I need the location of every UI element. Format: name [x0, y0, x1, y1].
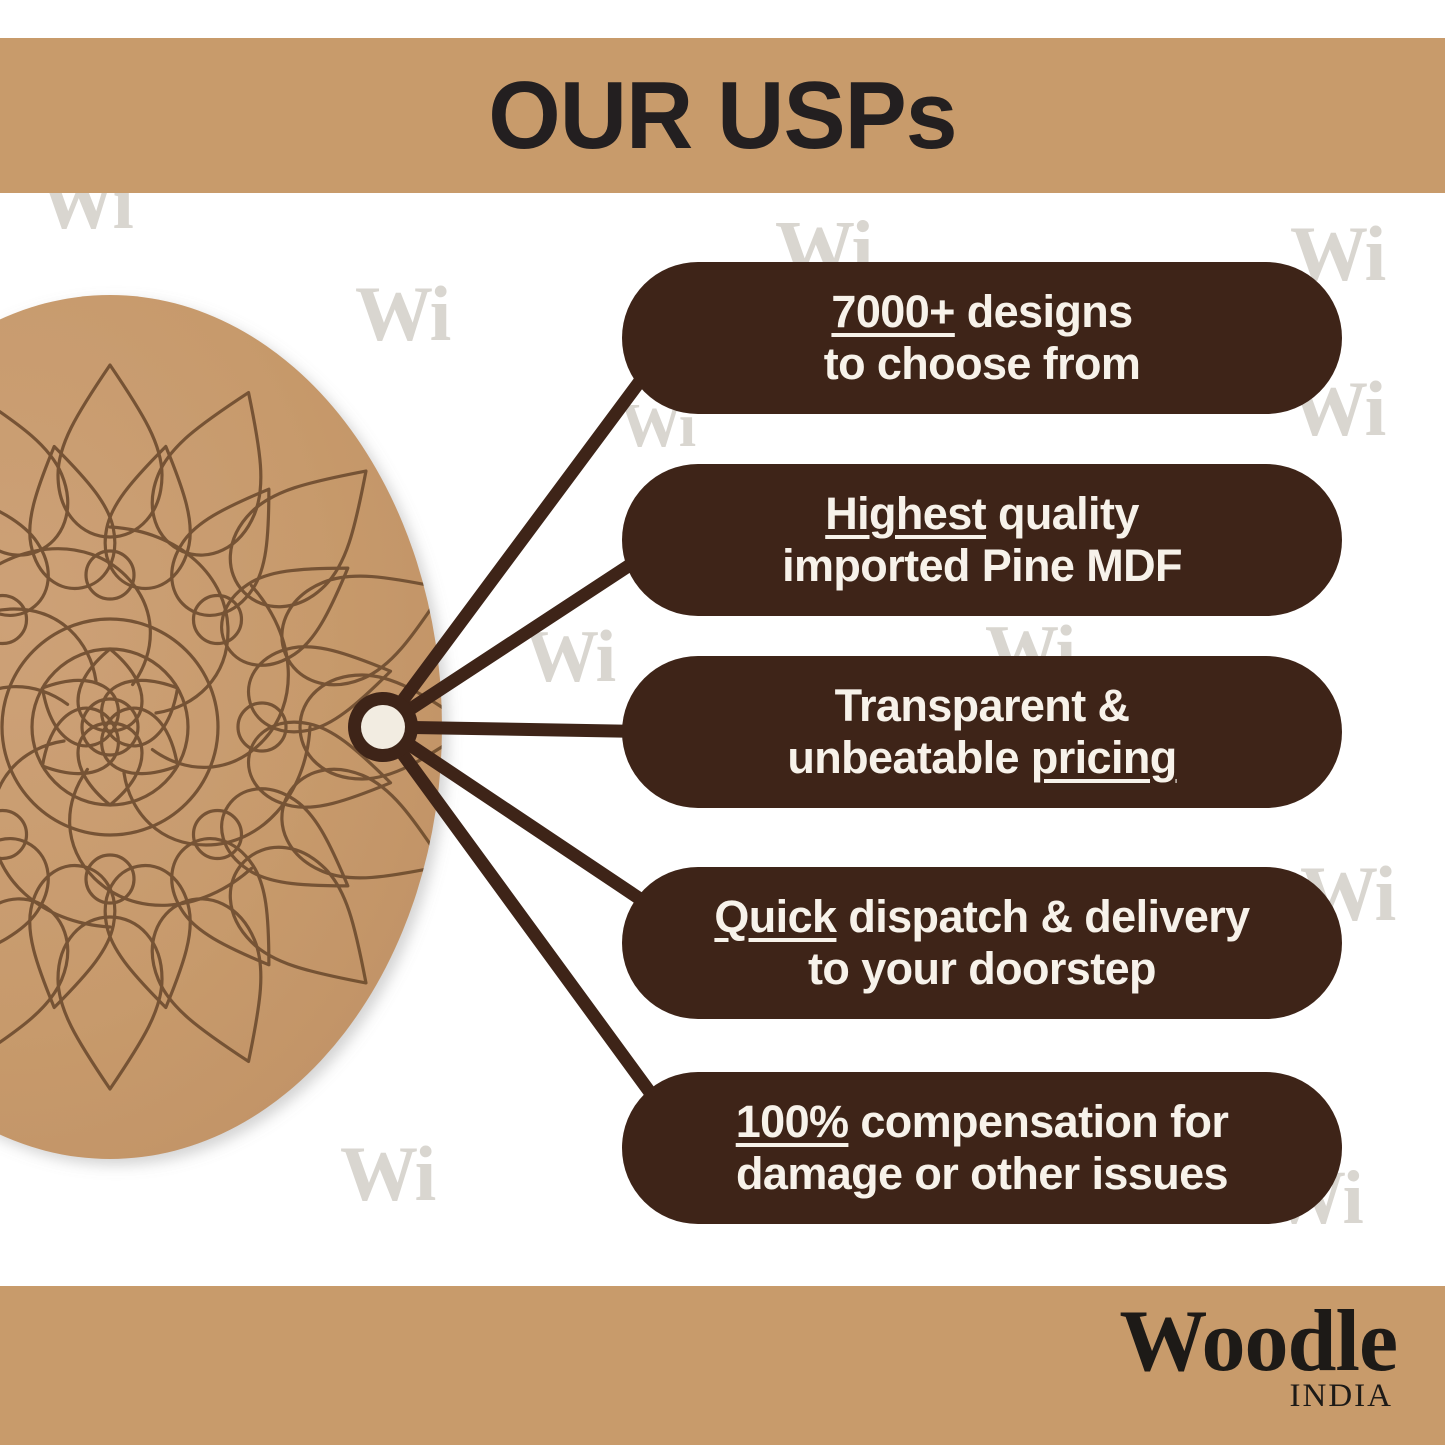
usp-pill-compensation[interactable]: 100% compensation for damage or other is… [622, 1072, 1342, 1224]
usp-pill-dispatch-delivery[interactable]: Quick dispatch & delivery to your doorst… [622, 867, 1342, 1019]
usp-label-designs-count: 7000+ designs to choose from [824, 286, 1141, 390]
usp-label-dispatch-delivery: Quick dispatch & delivery to your doorst… [714, 891, 1249, 995]
brand-wordmark: Woodle [1119, 1300, 1397, 1384]
footer-banner: Woodle INDIA [0, 1286, 1445, 1445]
page-title: OUR USPs [488, 68, 956, 164]
brand-logo[interactable]: Woodle INDIA [1119, 1300, 1397, 1413]
usp-label-material-quality: Highest quality imported Pine MDF [782, 488, 1182, 592]
usp-pill-pricing[interactable]: Transparent & unbeatable pricing [622, 656, 1342, 808]
usp-label-pricing: Transparent & unbeatable pricing [787, 680, 1176, 784]
usp-pill-designs-count[interactable]: 7000+ designs to choose from [622, 262, 1342, 414]
infographic-canvas: WiWiWiWiWiWiWiWiWiWiWiWiWiWiWiWi [0, 0, 1445, 1445]
usp-pill-material-quality[interactable]: Highest quality imported Pine MDF [622, 464, 1342, 616]
header-banner: OUR USPs [0, 38, 1445, 193]
usp-pill-list: 7000+ designs to choose from Highest qua… [0, 0, 1445, 1445]
usp-label-compensation: 100% compensation for damage or other is… [736, 1096, 1229, 1200]
